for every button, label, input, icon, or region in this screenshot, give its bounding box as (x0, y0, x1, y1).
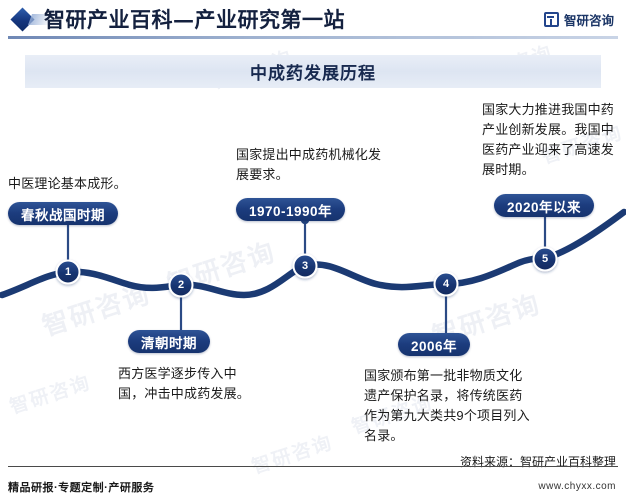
footer-services: 精品研报·专题定制·产研服务 (8, 479, 154, 495)
chart-title-banner: 中成药发展历程 (25, 55, 601, 88)
footer-url: www.chyxx.com (538, 481, 616, 492)
zhiyan-logo-icon (544, 12, 559, 27)
node-1-description: 中医理论基本成形。 (8, 174, 168, 194)
node-3-description: 国家提出中成药机械化发展要求。 (236, 145, 391, 185)
node-group (57, 248, 557, 297)
node-2-badge[interactable]: 清朝时期 (128, 330, 210, 353)
node-5-badge[interactable]: 2020年以来 (494, 194, 594, 217)
footer-divider (8, 466, 618, 467)
chart-title: 中成药发展历程 (250, 59, 376, 84)
timeline-node[interactable] (534, 248, 557, 271)
header-divider (8, 36, 618, 39)
infographic-page: 智研咨询 智研咨询 智研咨询 智研咨询 智研咨询 智研咨询 智研咨询 智研咨询 … (0, 0, 626, 500)
node-2-description: 西方医学逐步传入中国，冲击中成药发展。 (118, 364, 258, 404)
node-4-description: 国家颁布第一批非物质文化遗产保护名录，将传统医药作为第九大类共9个项目列入名录。 (364, 366, 534, 446)
node-3-badge[interactable]: 1970-1990年 (236, 198, 345, 221)
source-note: 资料来源：智研产业百科整理 (460, 453, 616, 470)
watermark: 智研咨询 (248, 428, 336, 480)
timeline-node[interactable] (435, 273, 458, 296)
page-header: 智研产业百科—产业研究第一站 智研咨询 (0, 0, 626, 38)
brand-name: 智研咨询 (564, 10, 614, 29)
brand-lockup: 智研咨询 (544, 10, 614, 29)
timeline-node[interactable] (170, 274, 193, 297)
timeline-node[interactable] (294, 255, 317, 278)
node-1-badge[interactable]: 春秋战国时期 (8, 202, 118, 225)
timeline-node[interactable] (57, 261, 80, 284)
page-title: 智研产业百科—产业研究第一站 (44, 4, 345, 34)
node-4-badge[interactable]: 2006年 (398, 333, 470, 356)
node-5-description: 国家大力推进我国中药产业创新发展。我国中医药产业迎来了高速发展时期。 (482, 100, 624, 180)
